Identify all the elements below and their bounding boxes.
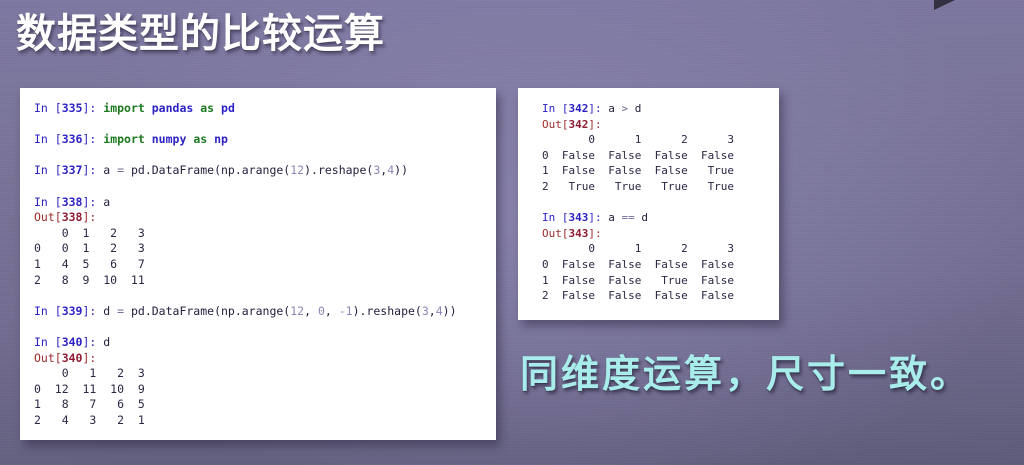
- code-token: a: [103, 163, 117, 177]
- code-token: ,: [429, 304, 436, 318]
- prompt-out-number: 342: [569, 118, 589, 131]
- prompt-in-label: In [: [34, 101, 62, 115]
- code-token: ).reshape(: [353, 304, 422, 318]
- dataframe-row: 0 0 1 2 3: [34, 241, 496, 257]
- code-input-line: In [339]: d = pd.DataFrame(np.arange(12,…: [34, 304, 496, 320]
- code-input-line: In [342]: a > d: [542, 101, 779, 117]
- code-output-left: In [335]: import pandas as pdIn [336]: i…: [20, 88, 496, 428]
- dataframe-row: 2 8 9 10 11: [34, 273, 496, 289]
- code-output-prompt: Out[338]:: [34, 210, 496, 226]
- code-token: [145, 101, 152, 115]
- slide-caption: 同维度运算，尺寸一致。: [520, 348, 971, 400]
- dataframe-row: 1 False False True False: [542, 273, 779, 289]
- prompt-in-label: In [: [542, 102, 569, 115]
- prompt-in-close: ]:: [82, 304, 103, 318]
- code-output-right: In [342]: a > dOut[342]: 0 1 2 30 False …: [518, 88, 779, 304]
- code-token: ).reshape(: [304, 163, 373, 177]
- code-token: 3: [422, 304, 429, 318]
- prompt-in-close: ]:: [82, 101, 103, 115]
- code-token: a: [608, 102, 621, 115]
- code-token: 4: [436, 304, 443, 318]
- prompt-in-close: ]:: [82, 195, 103, 209]
- prompt-in-number: 342: [569, 102, 589, 115]
- prompt-out-close: ]:: [588, 227, 601, 240]
- dataframe-row: 0 False False False False: [542, 257, 779, 273]
- page-title: 数据类型的比较运算: [16, 6, 385, 62]
- code-output-prompt: Out[342]:: [542, 117, 779, 133]
- prompt-in-label: In [: [34, 335, 62, 349]
- code-token: ==: [622, 211, 635, 224]
- prompt-in-close: ]:: [82, 132, 103, 146]
- dataframe-row: 0 12 11 10 9: [34, 382, 496, 398]
- code-token: np: [214, 132, 228, 146]
- code-token: 12: [290, 304, 304, 318]
- code-token: a: [103, 195, 110, 209]
- prompt-in-number: 340: [62, 335, 83, 349]
- code-token: d: [635, 211, 648, 224]
- dataframe-row: 1 False False False True: [542, 163, 779, 179]
- code-token: -1: [339, 304, 353, 318]
- prompt-in-label: In [: [542, 211, 569, 224]
- prompt-in-label: In [: [34, 132, 62, 146]
- code-blank-line: [34, 117, 496, 133]
- dataframe-row: 0 False False False False: [542, 148, 779, 164]
- code-input-line: In [336]: import numpy as np: [34, 132, 496, 148]
- code-token: ,: [304, 304, 318, 318]
- code-token: pd: [221, 101, 235, 115]
- dataframe-row: 2 True True True True: [542, 179, 779, 195]
- prompt-in-label: In [: [34, 195, 62, 209]
- code-token: d: [103, 335, 110, 349]
- code-token: d: [628, 102, 641, 115]
- prompt-in-number: 336: [62, 132, 83, 146]
- code-token: pandas: [152, 101, 194, 115]
- code-token: a: [608, 211, 621, 224]
- prompt-out-label: Out[: [542, 118, 569, 131]
- prompt-in-number: 339: [62, 304, 83, 318]
- code-token: pd.DataFrame(np.arange(: [124, 304, 290, 318]
- code-input-line: In [337]: a = pd.DataFrame(np.arange(12)…: [34, 163, 496, 179]
- prompt-out-label: Out[: [34, 210, 62, 224]
- dataframe-row: 1 4 5 6 7: [34, 257, 496, 273]
- code-token: [145, 132, 152, 146]
- code-token: import: [103, 132, 145, 146]
- prompt-in-number: 335: [62, 101, 83, 115]
- dataframe-row: 2 False False False False: [542, 288, 779, 304]
- dataframe-row: 0 1 2 3: [542, 241, 779, 257]
- code-input-line: In [343]: a == d: [542, 210, 779, 226]
- prompt-in-number: 338: [62, 195, 83, 209]
- code-input-line: In [340]: d: [34, 335, 496, 351]
- prompt-out-label: Out[: [34, 351, 62, 365]
- code-token: 12: [290, 163, 304, 177]
- prompt-out-number: 338: [62, 210, 83, 224]
- prompt-in-close: ]:: [82, 163, 103, 177]
- code-token: 0: [318, 304, 325, 318]
- prompt-in-label: In [: [34, 163, 62, 177]
- code-token: )): [394, 163, 408, 177]
- prompt-out-close: ]:: [588, 118, 601, 131]
- prompt-out-number: 343: [569, 227, 589, 240]
- code-token: [214, 101, 221, 115]
- code-blank-line: [34, 288, 496, 304]
- code-token: import: [103, 101, 145, 115]
- ipython-console-right[interactable]: In [342]: a > dOut[342]: 0 1 2 30 False …: [518, 88, 779, 320]
- prompt-in-number: 337: [62, 163, 83, 177]
- code-token: d: [103, 304, 117, 318]
- prompt-in-close: ]:: [82, 335, 103, 349]
- code-blank-line: [34, 179, 496, 195]
- code-input-line: In [338]: a: [34, 195, 496, 211]
- prompt-in-label: In [: [34, 304, 62, 318]
- dataframe-row: 2 4 3 2 1: [34, 413, 496, 429]
- prompt-out-label: Out[: [542, 227, 569, 240]
- prompt-out-number: 340: [62, 351, 83, 365]
- code-blank-line: [542, 195, 779, 211]
- prompt-out-close: ]:: [82, 351, 96, 365]
- code-token: as: [193, 132, 207, 146]
- code-output-prompt: Out[340]:: [34, 351, 496, 367]
- triangle-cursor-icon: [934, 0, 957, 10]
- dataframe-row: 0 1 2 3: [34, 366, 496, 382]
- prompt-out-close: ]:: [82, 210, 96, 224]
- code-blank-line: [34, 148, 496, 164]
- code-token: pd.DataFrame(np.arange(: [124, 163, 290, 177]
- dataframe-row: 0 1 2 3: [542, 132, 779, 148]
- prompt-in-number: 343: [569, 211, 589, 224]
- prompt-in-close: ]:: [588, 211, 608, 224]
- code-token: as: [200, 101, 214, 115]
- code-output-prompt: Out[343]:: [542, 226, 779, 242]
- ipython-console-left[interactable]: In [335]: import pandas as pdIn [336]: i…: [20, 88, 496, 440]
- code-token: numpy: [152, 132, 187, 146]
- code-blank-line: [34, 319, 496, 335]
- dataframe-row: 0 1 2 3: [34, 226, 496, 242]
- dataframe-row: 1 8 7 6 5: [34, 397, 496, 413]
- code-token: ,: [325, 304, 339, 318]
- prompt-in-close: ]:: [588, 102, 608, 115]
- code-token: )): [443, 304, 457, 318]
- slide-root: 数据类型的比较运算 In [335]: import pandas as pdI…: [0, 0, 1024, 465]
- code-input-line: In [335]: import pandas as pd: [34, 101, 496, 117]
